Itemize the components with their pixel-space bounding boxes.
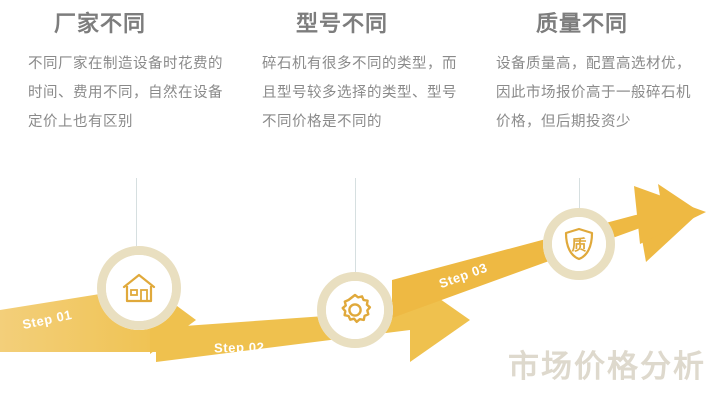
gear-icon xyxy=(338,293,372,327)
shield-quality-icon: 质 xyxy=(563,227,595,261)
connector-line-2 xyxy=(355,178,356,278)
step-block-2: 型号不同 碎石机有很多不同的类型，而且型号较多选择的类型、型号不同价格是不同的 xyxy=(262,12,458,137)
watermark-text: 市场价格分析 xyxy=(508,341,706,386)
step-badge-2 xyxy=(317,272,393,348)
step-block-3: 质量不同 设备质量高，配置高选材优，因此市场报价高于一般碎石机价格，但后期投资少 xyxy=(496,12,692,137)
shield-glyph-label: 质 xyxy=(571,236,586,254)
step-body-1: 不同厂家在制造设备时花费的时间、费用不同，自然在设备定价上也有区别 xyxy=(28,50,224,137)
step-body-3: 设备质量高，配置高选材优，因此市场报价高于一般碎石机价格，但后期投资少 xyxy=(496,50,692,137)
step-title-2: 型号不同 xyxy=(296,12,458,36)
step-label-2: Step 02 xyxy=(214,340,265,356)
home-icon xyxy=(122,272,156,304)
step-title-1: 厂家不同 xyxy=(54,12,224,36)
badge-inner-2 xyxy=(326,281,384,339)
infographic-stage: 厂家不同 不同厂家在制造设备时花费的时间、费用不同，自然在设备定价上也有区别 型… xyxy=(0,0,720,400)
step-body-2: 碎石机有很多不同的类型，而且型号较多选择的类型、型号不同价格是不同的 xyxy=(262,50,458,137)
step-badge-3: 质 xyxy=(543,208,615,280)
connector-line-1 xyxy=(136,178,137,250)
badge-inner-1 xyxy=(106,255,172,321)
badge-inner-3: 质 xyxy=(552,217,606,271)
step-title-3: 质量不同 xyxy=(536,12,692,36)
connector-line-3 xyxy=(579,178,580,208)
step-badge-1 xyxy=(97,246,181,330)
step-block-1: 厂家不同 不同厂家在制造设备时花费的时间、费用不同，自然在设备定价上也有区别 xyxy=(28,12,224,137)
